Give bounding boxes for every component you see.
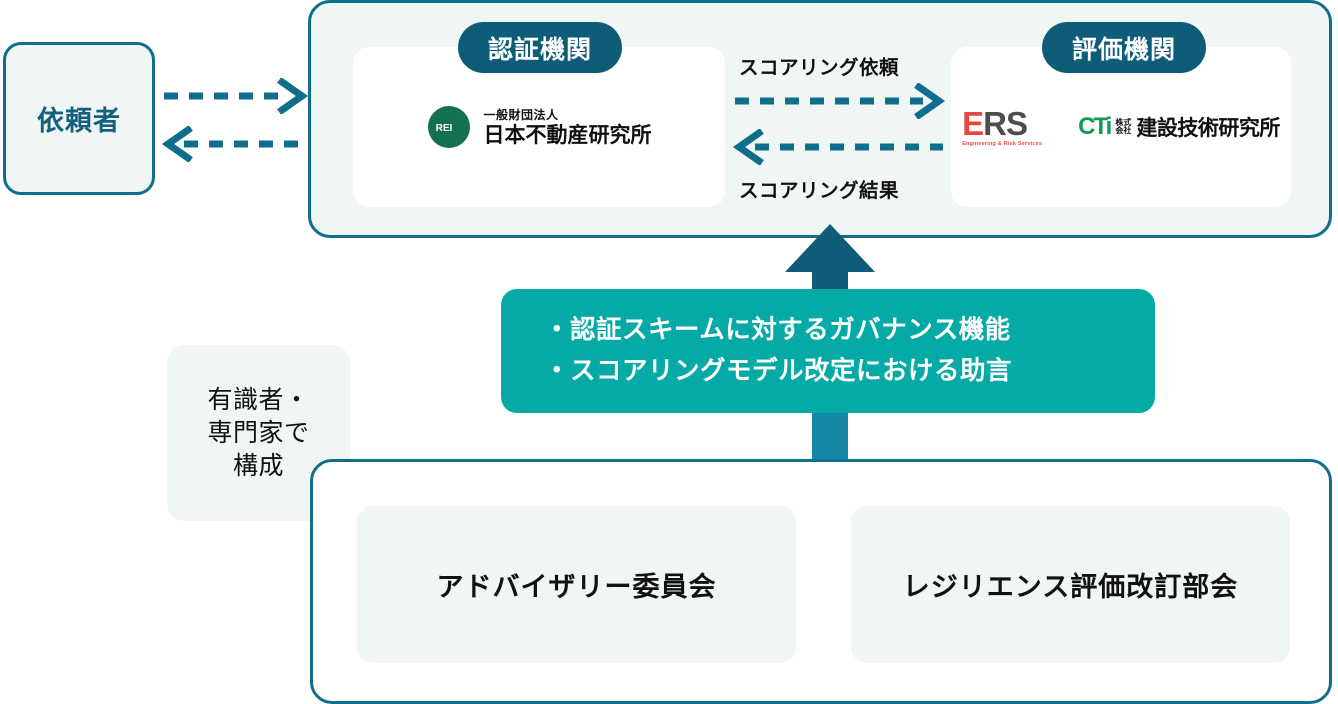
- top-panel: REI 一般財団法人 日本不動産研究所 認証機関 ERS Engineering…: [308, 0, 1332, 238]
- evaluation-body-badge: 評価機関: [1042, 22, 1206, 73]
- scoring-result-label: スコアリング結果: [739, 174, 899, 203]
- ers-wordmark-rest: RS: [983, 105, 1027, 142]
- rei-mark-icon: REI: [427, 105, 471, 149]
- cti-company-type-line2: 会社: [1115, 126, 1131, 135]
- rei-org-name: 日本不動産研究所: [484, 125, 652, 146]
- ers-wordmark: ERS: [962, 107, 1042, 140]
- experts-note-line-0: 有識者・: [207, 386, 309, 414]
- rei-mark-text: REI: [435, 123, 452, 134]
- certification-body-badge-label: 認証機関: [488, 30, 592, 66]
- scoring-request-arrow: [731, 83, 947, 119]
- diagram-canvas: 依頼者 REI 一般財団法人: [0, 0, 1338, 704]
- experts-note-line-1: 専門家で: [207, 419, 309, 447]
- governance-arrow-stem-lower: [812, 408, 848, 466]
- experts-note-line-2: 構成: [233, 452, 284, 480]
- rei-logo-text: 一般財団法人 日本不動産研究所: [484, 109, 652, 146]
- governance-bullet-1: ・スコアリングモデル改定における助言: [544, 351, 1155, 392]
- governance-callout: ・認証スキームに対するガバナンス機能 ・スコアリングモデル改定における助言: [501, 289, 1155, 413]
- cti-org-name: 建設技術研究所: [1136, 112, 1280, 142]
- experts-note-label: 有識者・ 専門家で 構成: [207, 384, 309, 483]
- requester-outbound-arrow: [160, 78, 310, 114]
- bottom-panel: アドバイザリー委員会 レジリエンス評価改訂部会: [310, 459, 1332, 704]
- committee-card-resilience: レジリエンス評価改訂部会: [851, 506, 1290, 663]
- ers-logo: ERS Engineering & Risk Services: [962, 107, 1042, 148]
- committee-label-advisory: アドバイザリー委員会: [437, 565, 717, 604]
- certification-body-badge: 認証機関: [458, 22, 622, 73]
- committee-card-advisory: アドバイザリー委員会: [357, 506, 796, 663]
- ers-tagline: Engineering & Risk Services: [962, 142, 1042, 148]
- scoring-result-arrow: [731, 129, 947, 165]
- governance-bullet-0: ・認証スキームに対するガバナンス機能: [544, 310, 1155, 351]
- evaluation-logos: ERS Engineering & Risk Services CTi 株式 会…: [962, 107, 1280, 148]
- scoring-request-label: スコアリング依頼: [739, 51, 899, 80]
- cti-mark-icon: CTi: [1078, 113, 1110, 141]
- requester-box: 依頼者: [3, 42, 155, 195]
- evaluation-body-badge-label: 評価機関: [1072, 30, 1176, 66]
- rei-logo: REI 一般財団法人 日本不動産研究所: [427, 105, 652, 149]
- rei-org-prefix: 一般財団法人: [484, 109, 652, 121]
- committee-label-resilience: レジリエンス評価改訂部会: [903, 565, 1238, 604]
- requester-label: 依頼者: [37, 99, 121, 138]
- cti-logo: CTi 株式 会社 建設技術研究所: [1078, 112, 1280, 142]
- cti-company-type: 株式 会社: [1115, 119, 1131, 136]
- requester-inbound-arrow: [160, 126, 310, 162]
- ers-wordmark-first: E: [962, 105, 983, 142]
